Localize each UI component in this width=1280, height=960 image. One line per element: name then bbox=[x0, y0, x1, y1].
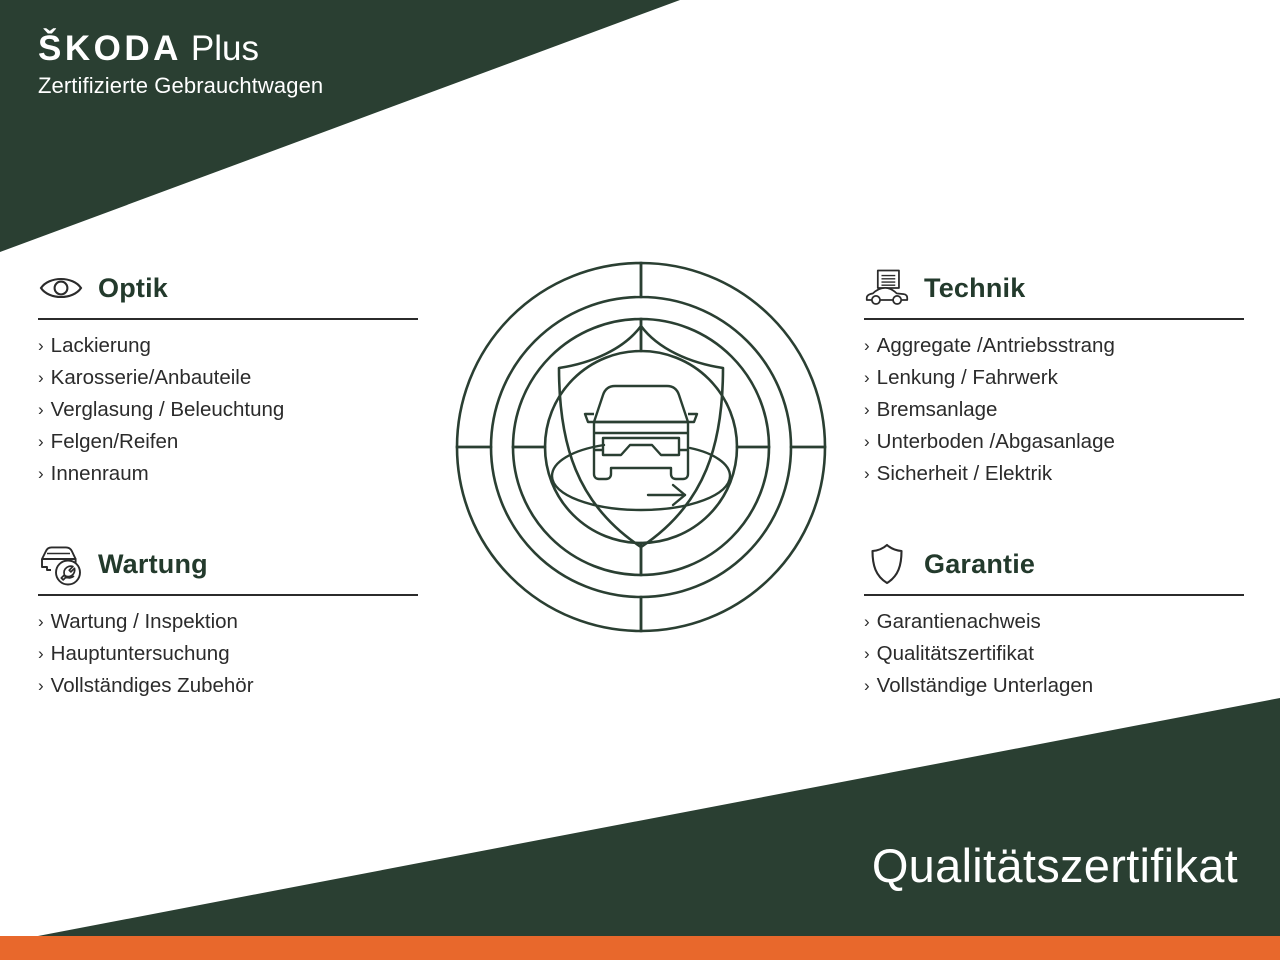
section-optik: Optik ›Lackierung ›Karosserie/Anbauteile… bbox=[38, 264, 418, 490]
list-item: ›Unterboden /Abgasanlage bbox=[864, 426, 1244, 458]
section-garantie-title: Garantie bbox=[924, 549, 1035, 580]
chevron-right-icon: › bbox=[864, 458, 870, 489]
brand-suffix: Plus bbox=[191, 28, 259, 70]
list-item-label: Sicherheit / Elektrik bbox=[877, 458, 1052, 489]
section-optik-header: Optik bbox=[38, 264, 418, 312]
chevron-right-icon: › bbox=[38, 458, 44, 489]
section-optik-divider bbox=[38, 318, 418, 320]
brand-logo-line: ŠKODA Plus bbox=[38, 28, 323, 70]
chevron-right-icon: › bbox=[38, 638, 44, 669]
list-item-label: Wartung / Inspektion bbox=[51, 606, 238, 637]
list-item-label: Innenraum bbox=[51, 458, 149, 489]
section-technik-divider bbox=[864, 318, 1244, 320]
section-wartung-list: ›Wartung / Inspektion ›Hauptuntersuchung… bbox=[38, 606, 418, 702]
section-garantie-list: ›Garantienachweis ›Qualitätszertifikat ›… bbox=[864, 606, 1244, 702]
chevron-right-icon: › bbox=[38, 362, 44, 393]
list-item: ›Verglasung / Beleuchtung bbox=[38, 394, 418, 426]
section-technik-title: Technik bbox=[924, 273, 1025, 304]
list-item-label: Aggregate /Antriebsstrang bbox=[877, 330, 1115, 361]
chevron-right-icon: › bbox=[864, 394, 870, 425]
section-garantie: Garantie ›Garantienachweis ›Qualitätszer… bbox=[864, 540, 1244, 702]
list-item-label: Karosserie/Anbauteile bbox=[51, 362, 252, 393]
brand-logo: ŠKODA Plus Zertifizierte Gebrauchtwagen bbox=[38, 28, 323, 100]
list-item: ›Lackierung bbox=[38, 330, 418, 362]
list-item: ›Aggregate /Antriebsstrang bbox=[864, 330, 1244, 362]
list-item-label: Bremsanlage bbox=[877, 394, 998, 425]
list-item: ›Lenkung / Fahrwerk bbox=[864, 362, 1244, 394]
list-item-label: Unterboden /Abgasanlage bbox=[877, 426, 1115, 457]
chevron-right-icon: › bbox=[864, 606, 870, 637]
chevron-right-icon: › bbox=[864, 638, 870, 669]
section-wartung-title: Wartung bbox=[98, 549, 208, 580]
eye-icon bbox=[38, 265, 84, 311]
list-item-label: Lenkung / Fahrwerk bbox=[877, 362, 1058, 393]
section-garantie-divider bbox=[864, 594, 1244, 596]
list-item-label: Vollständiges Zubehör bbox=[51, 670, 254, 701]
car-wrench-icon bbox=[38, 541, 84, 587]
list-item-label: Garantienachweis bbox=[877, 606, 1041, 637]
list-item: ›Bremsanlage bbox=[864, 394, 1244, 426]
section-garantie-header: Garantie bbox=[864, 540, 1244, 588]
chevron-right-icon: › bbox=[38, 394, 44, 425]
footer-title: Qualitätszertifikat bbox=[872, 838, 1238, 894]
shield-icon bbox=[864, 541, 910, 587]
section-technik: Technik ›Aggregate /Antriebsstrang ›Lenk… bbox=[864, 264, 1244, 490]
section-optik-list: ›Lackierung ›Karosserie/Anbauteile ›Verg… bbox=[38, 330, 418, 490]
list-item-label: Vollständige Unterlagen bbox=[877, 670, 1094, 701]
list-item: ›Hauptuntersuchung bbox=[38, 638, 418, 670]
section-optik-title: Optik bbox=[98, 273, 168, 304]
list-item-label: Verglasung / Beleuchtung bbox=[51, 394, 285, 425]
chevron-right-icon: › bbox=[38, 426, 44, 457]
list-item-label: Hauptuntersuchung bbox=[51, 638, 230, 669]
chevron-right-icon: › bbox=[38, 606, 44, 637]
car-document-icon bbox=[864, 265, 910, 311]
section-technik-header: Technik bbox=[864, 264, 1244, 312]
brand-name: ŠKODA bbox=[38, 28, 182, 70]
list-item: ›Wartung / Inspektion bbox=[38, 606, 418, 638]
chevron-right-icon: › bbox=[864, 670, 870, 701]
section-wartung-header: Wartung bbox=[38, 540, 418, 588]
list-item-label: Felgen/Reifen bbox=[51, 426, 179, 457]
certificate-page: ŠKODA Plus Zertifizierte Gebrauchtwagen … bbox=[0, 0, 1280, 960]
list-item: ›Felgen/Reifen bbox=[38, 426, 418, 458]
section-wartung: Wartung ›Wartung / Inspektion ›Hauptunte… bbox=[38, 540, 418, 702]
chevron-right-icon: › bbox=[864, 362, 870, 393]
brand-tagline: Zertifizierte Gebrauchtwagen bbox=[38, 72, 323, 100]
chevron-right-icon: › bbox=[38, 330, 44, 361]
list-item: ›Qualitätszertifikat bbox=[864, 638, 1244, 670]
footer-orange-bar bbox=[0, 936, 1280, 960]
list-item: ›Vollständige Unterlagen bbox=[864, 670, 1244, 702]
list-item: ›Vollständiges Zubehör bbox=[38, 670, 418, 702]
section-technik-list: ›Aggregate /Antriebsstrang ›Lenkung / Fa… bbox=[864, 330, 1244, 490]
section-wartung-divider bbox=[38, 594, 418, 596]
list-item: ›Innenraum bbox=[38, 458, 418, 490]
chevron-right-icon: › bbox=[864, 426, 870, 457]
list-item: ›Sicherheit / Elektrik bbox=[864, 458, 1244, 490]
list-item: ›Garantienachweis bbox=[864, 606, 1244, 638]
chevron-right-icon: › bbox=[864, 330, 870, 361]
chevron-right-icon: › bbox=[38, 670, 44, 701]
shield-car-rotation-emblem bbox=[452, 258, 830, 636]
list-item: ›Karosserie/Anbauteile bbox=[38, 362, 418, 394]
list-item-label: Qualitätszertifikat bbox=[877, 638, 1034, 669]
list-item-label: Lackierung bbox=[51, 330, 151, 361]
